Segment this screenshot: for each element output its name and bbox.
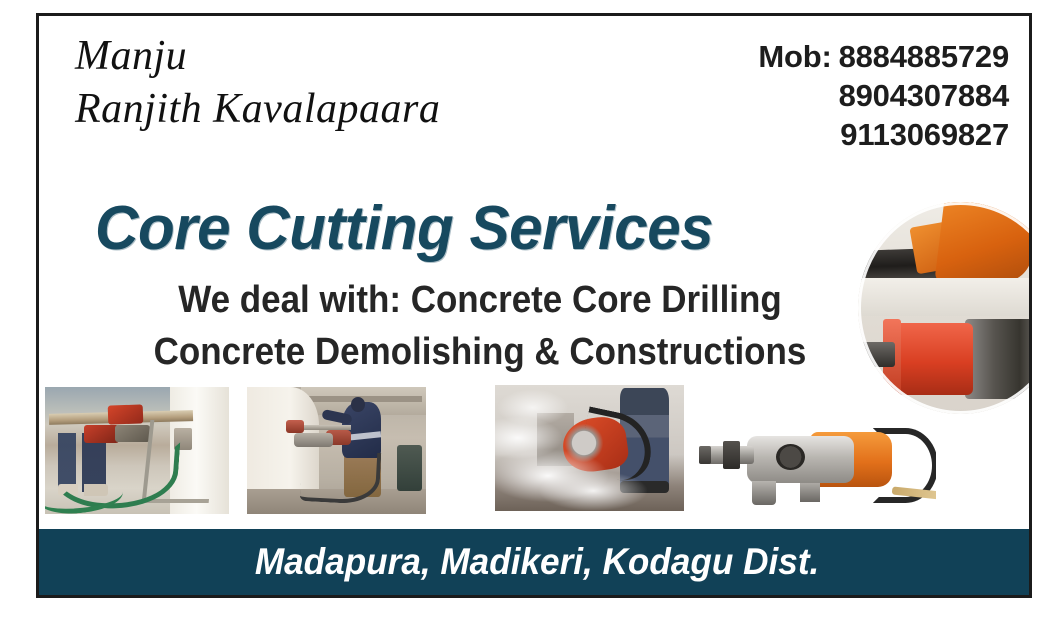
owner-last-name: Ranjith Kavalapaara xyxy=(75,82,595,136)
photo-2-barrel xyxy=(397,445,422,491)
tagline-line-2: Concrete Demolishing & Constructions xyxy=(117,326,844,378)
business-card: Manju Ranjith Kavalapaara Mob:8884885729… xyxy=(36,13,1032,598)
owner-first-name: Manju xyxy=(75,30,595,82)
photo-wall-drilling-worker xyxy=(247,387,426,514)
phone-row-2: 8904307884 xyxy=(758,76,1009,115)
photo-3-dust-cloud xyxy=(495,385,684,511)
service-title: Core Cutting Services xyxy=(95,194,713,264)
phone-number-2[interactable]: 8904307884 xyxy=(839,78,1009,113)
photo-2-drill-body xyxy=(294,433,333,447)
photo-4-content xyxy=(694,391,936,523)
photo-2-content xyxy=(247,387,426,514)
address-text: Madapura, Madikeri, Kodagu Dist. xyxy=(255,541,819,583)
photo-1-red-motor-upper xyxy=(107,404,143,424)
phone-row-3: 9113069827 xyxy=(758,115,1009,154)
address-banner: Madapura, Madikeri, Kodagu Dist. xyxy=(39,529,1032,595)
phone-number-3[interactable]: 9113069827 xyxy=(840,117,1009,152)
photo-4-base-foot-2 xyxy=(800,483,819,501)
photo-4-spindle-tip xyxy=(699,446,711,463)
contact-phone-block: Mob:8884885729 8904307884 9113069827 xyxy=(758,37,1009,154)
photo-core-drill-motor xyxy=(694,391,936,523)
photo-concrete-cutoff-saw xyxy=(495,385,684,511)
photo-4-base-foot xyxy=(752,481,776,505)
phone-row-1: Mob:8884885729 xyxy=(758,37,1009,76)
photo-4-spindle-nut xyxy=(723,441,740,469)
tagline-line-1: We deal with: Concrete Core Drilling xyxy=(117,274,844,326)
services-tagline: We deal with: Concrete Core Drilling Con… xyxy=(85,274,875,378)
photo-2-red-bit xyxy=(286,420,304,433)
photo-1-content xyxy=(45,387,229,514)
photo-3-content xyxy=(495,385,684,511)
photo-core-drilling-rig xyxy=(45,387,229,514)
mobile-label: Mob: xyxy=(758,39,831,74)
hero-core-drill-photo xyxy=(858,202,1032,414)
owner-name-block: Manju Ranjith Kavalapaara xyxy=(75,30,595,136)
phone-number-1[interactable]: 8884885729 xyxy=(839,39,1009,74)
